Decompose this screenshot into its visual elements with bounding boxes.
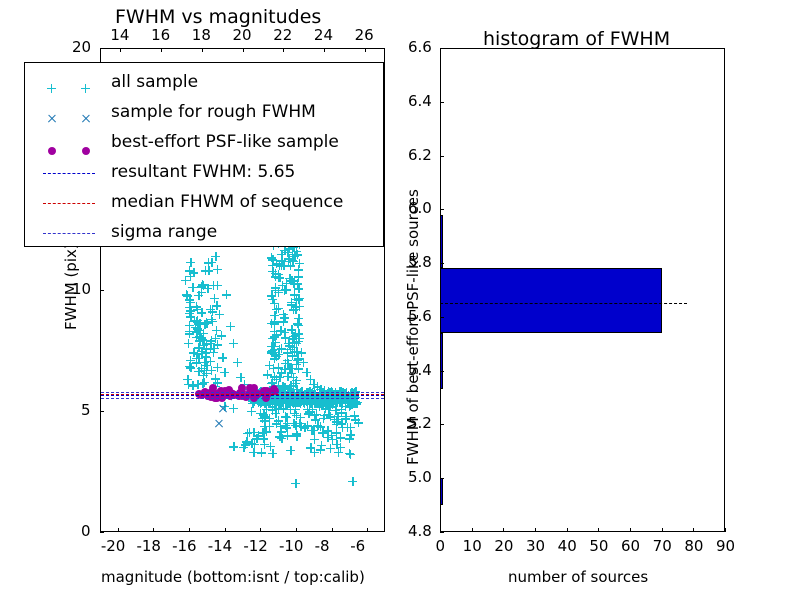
scatter-point-all <box>268 255 277 264</box>
scatter-point-all <box>211 374 220 383</box>
histogram-yticklabel: 5.0 <box>408 468 432 486</box>
histogram-yticklabel: 6.0 <box>408 199 432 217</box>
scatter-xtick <box>153 528 154 532</box>
scatter-point-all <box>218 353 227 362</box>
scatter-xlabel: magnitude (bottom:isnt / top:calib) <box>101 568 365 586</box>
scatter-point-all <box>229 404 238 413</box>
scatter-point-all <box>315 401 324 410</box>
histogram-xtick <box>567 528 568 532</box>
histogram-xticklabel: 70 <box>653 537 672 555</box>
legend-label-psf-like: best-effort PSF-like sample <box>111 132 339 152</box>
histogram-median-line <box>441 303 687 304</box>
scatter-xtick <box>332 528 333 532</box>
scatter-ytick <box>100 532 104 533</box>
scatter-xticklabel: -8 <box>315 537 330 555</box>
histogram-yticklabel: 6.2 <box>408 146 432 164</box>
scatter-point-rough <box>218 404 227 413</box>
legend: all sample sample for rough FWHM best-ef… <box>24 62 384 247</box>
scatter-title: FWHM vs magnitudes <box>115 6 321 28</box>
scatter-point-all <box>286 446 295 455</box>
scatter-point-all <box>334 448 343 457</box>
histogram-xlabel: number of sources <box>508 568 648 586</box>
scatter-xticklabel-top: 18 <box>192 26 211 44</box>
histogram-yticklabel: 4.8 <box>408 522 432 540</box>
histogram-xtick <box>535 528 536 532</box>
scatter-ytick <box>100 290 104 291</box>
scatter-point-all <box>229 442 238 451</box>
scatter-xticklabel-top: 20 <box>233 26 252 44</box>
scatter-xtick-top <box>365 48 366 52</box>
histogram-ytick <box>440 371 444 372</box>
scatter-point-all <box>268 449 277 458</box>
histogram-xtick <box>693 528 694 532</box>
scatter-xticklabel-top: 24 <box>314 26 333 44</box>
scatter-point-all <box>233 358 242 367</box>
scatter-point-all <box>306 443 315 452</box>
histogram-xticklabel: 90 <box>716 537 735 555</box>
legend-label-all-sample: all sample <box>111 72 198 92</box>
histogram-panel <box>440 48 725 532</box>
scatter-yticklabel: 10 <box>72 280 91 298</box>
scatter-point-all <box>280 328 289 337</box>
scatter-point-all <box>191 323 200 332</box>
scatter-point-all <box>182 290 191 299</box>
histogram-bar <box>441 268 662 333</box>
scatter-ytick <box>100 48 104 49</box>
histogram-ytick <box>440 424 444 425</box>
scatter-xticklabel-top: 16 <box>151 26 170 44</box>
scatter-point-all <box>354 418 363 427</box>
histogram-ytick <box>440 209 444 210</box>
scatter-xticklabel-top: 26 <box>355 26 374 44</box>
histogram-xticklabel: 50 <box>589 537 608 555</box>
scatter-xtick-top <box>120 48 121 52</box>
scatter-point-all <box>277 250 286 259</box>
scatter-point-all <box>332 428 341 437</box>
scatter-point-all <box>292 337 301 346</box>
scatter-yticklabel: 20 <box>72 38 91 56</box>
scatter-point-all <box>291 479 300 488</box>
histogram-ytick <box>440 263 444 264</box>
scatter-point-all <box>213 265 222 274</box>
scatter-point-all <box>212 326 221 335</box>
resultant-fwhm-line <box>101 395 384 396</box>
scatter-point-all <box>294 284 303 293</box>
histogram-plot-area <box>441 49 724 531</box>
scatter-xtick-top <box>283 48 284 52</box>
histogram-ytick <box>440 317 444 318</box>
figure-canvas: FWHM vs magnitudes magnitude (bottom:isn… <box>0 0 800 600</box>
scatter-xticklabel: -10 <box>279 537 304 555</box>
scatter-xticklabel-top: 14 <box>110 26 129 44</box>
legend-item-median-fwhm: median FHWM of sequence <box>25 189 383 219</box>
legend-item-rough-fwhm: sample for rough FWHM <box>25 99 383 129</box>
scatter-xticklabel: -16 <box>172 537 197 555</box>
scatter-point-all <box>290 347 299 356</box>
sigma-range-line-lower <box>101 398 384 399</box>
legend-label-sigma-range: sigma range <box>111 222 217 242</box>
scatter-point-all <box>277 434 286 443</box>
scatter-point-all <box>187 306 196 315</box>
scatter-point-all <box>270 317 279 326</box>
scatter-point-all <box>289 373 298 382</box>
histogram-yticklabel: 6.4 <box>408 92 432 110</box>
legend-label-resultant-fwhm: resultant FWHM: 5.65 <box>111 162 295 182</box>
scatter-point-all <box>341 402 350 411</box>
histogram-xtick <box>598 528 599 532</box>
histogram-xtick <box>472 528 473 532</box>
scatter-point-all <box>272 352 281 361</box>
scatter-xtick <box>225 528 226 532</box>
scatter-point-all <box>186 363 195 372</box>
scatter-xticklabel: -12 <box>243 537 268 555</box>
histogram-xticklabel: 20 <box>494 537 513 555</box>
legend-item-psf-like: best-effort PSF-like sample <box>25 129 383 159</box>
scatter-point-all <box>186 356 195 365</box>
histogram-ytick <box>440 102 444 103</box>
histogram-xtick <box>662 528 663 532</box>
scatter-point-all <box>258 414 267 423</box>
histogram-bar <box>441 215 443 269</box>
legend-item-all-sample: all sample <box>25 69 383 99</box>
scatter-xtick-top <box>202 48 203 52</box>
scatter-ytick <box>100 411 104 412</box>
scatter-point-all <box>229 339 238 348</box>
scatter-xticklabel: -14 <box>208 537 233 555</box>
scatter-point-all <box>201 353 210 362</box>
scatter-point-all <box>226 322 235 331</box>
sigma-range-line-upper <box>101 392 384 393</box>
scatter-point-all <box>206 339 215 348</box>
histogram-yticklabel: 5.6 <box>408 307 432 325</box>
legend-item-resultant-fwhm: resultant FWHM: 5.65 <box>25 159 383 189</box>
scatter-point-all <box>323 433 332 442</box>
scatter-point-all <box>279 317 288 326</box>
scatter-point-all <box>197 282 206 291</box>
scatter-point-all <box>267 342 276 351</box>
histogram-ytick <box>440 48 444 49</box>
legend-item-sigma-range: sigma range <box>25 219 383 249</box>
scatter-point-all <box>345 449 354 458</box>
scatter-point-all <box>194 291 203 300</box>
histogram-ytick <box>440 532 444 533</box>
scatter-point-all <box>296 413 305 422</box>
scatter-xtick-top <box>161 48 162 52</box>
scatter-xticklabel: -18 <box>136 537 161 555</box>
scatter-point-all <box>268 402 277 411</box>
histogram-xticklabel: 10 <box>463 537 482 555</box>
histogram-bar <box>441 333 443 389</box>
scatter-point-all <box>287 300 296 309</box>
scatter-point-all <box>207 315 216 324</box>
scatter-xtick-top <box>243 48 244 52</box>
scatter-xtick <box>260 528 261 532</box>
scatter-xtick <box>118 528 119 532</box>
scatter-point-all <box>270 299 279 308</box>
scatter-xticklabel: -6 <box>350 537 365 555</box>
scatter-point-all <box>312 410 321 419</box>
scatter-yticklabel: 5 <box>81 401 91 419</box>
scatter-xtick <box>367 528 368 532</box>
histogram-xticklabel: 40 <box>558 537 577 555</box>
scatter-point-all <box>348 477 357 486</box>
histogram-xtick <box>503 528 504 532</box>
scatter-point-all <box>222 290 231 299</box>
histogram-xticklabel: 30 <box>526 537 545 555</box>
histogram-title: histogram of FWHM <box>483 28 670 50</box>
histogram-yticklabel: 5.4 <box>408 361 432 379</box>
histogram-yticklabel: 5.2 <box>408 414 432 432</box>
scatter-point-all <box>249 448 258 457</box>
histogram-xticklabel: 60 <box>621 537 640 555</box>
histogram-yticklabel: 5.8 <box>408 253 432 271</box>
scatter-point-all <box>282 413 291 422</box>
histogram-xticklabel: 80 <box>684 537 703 555</box>
scatter-point-all <box>197 364 206 373</box>
scatter-xticklabel: -20 <box>101 537 126 555</box>
scatter-xtick <box>189 528 190 532</box>
legend-label-rough-fwhm: sample for rough FWHM <box>111 102 316 122</box>
histogram-xtick <box>630 528 631 532</box>
scatter-point-all <box>274 363 283 372</box>
legend-label-median-fwhm: median FHWM of sequence <box>111 192 343 212</box>
scatter-point-all <box>292 429 301 438</box>
histogram-xtick <box>725 528 726 532</box>
scatter-point-all <box>345 434 354 443</box>
scatter-point-all <box>213 363 222 372</box>
histogram-yticklabel: 6.6 <box>408 38 432 56</box>
scatter-point-all <box>307 426 316 435</box>
histogram-bar <box>441 478 443 505</box>
scatter-point-all <box>260 440 269 449</box>
scatter-xticklabel-top: 22 <box>273 26 292 44</box>
scatter-point-all <box>341 412 350 421</box>
scatter-xtick-top <box>324 48 325 52</box>
histogram-ytick <box>440 156 444 157</box>
scatter-point-all <box>326 412 335 421</box>
scatter-point-all <box>286 405 295 414</box>
scatter-yticklabel: 0 <box>81 522 91 540</box>
scatter-point-rough <box>215 419 224 428</box>
scatter-point-all <box>188 381 197 390</box>
scatter-point-all <box>283 356 292 365</box>
scatter-point-all <box>274 273 283 282</box>
scatter-point-all <box>201 266 210 275</box>
scatter-point-all <box>285 364 294 373</box>
histogram-ytick <box>440 478 444 479</box>
histogram-xticklabel: 0 <box>436 537 446 555</box>
scatter-xtick <box>296 528 297 532</box>
scatter-point-all <box>185 266 194 275</box>
